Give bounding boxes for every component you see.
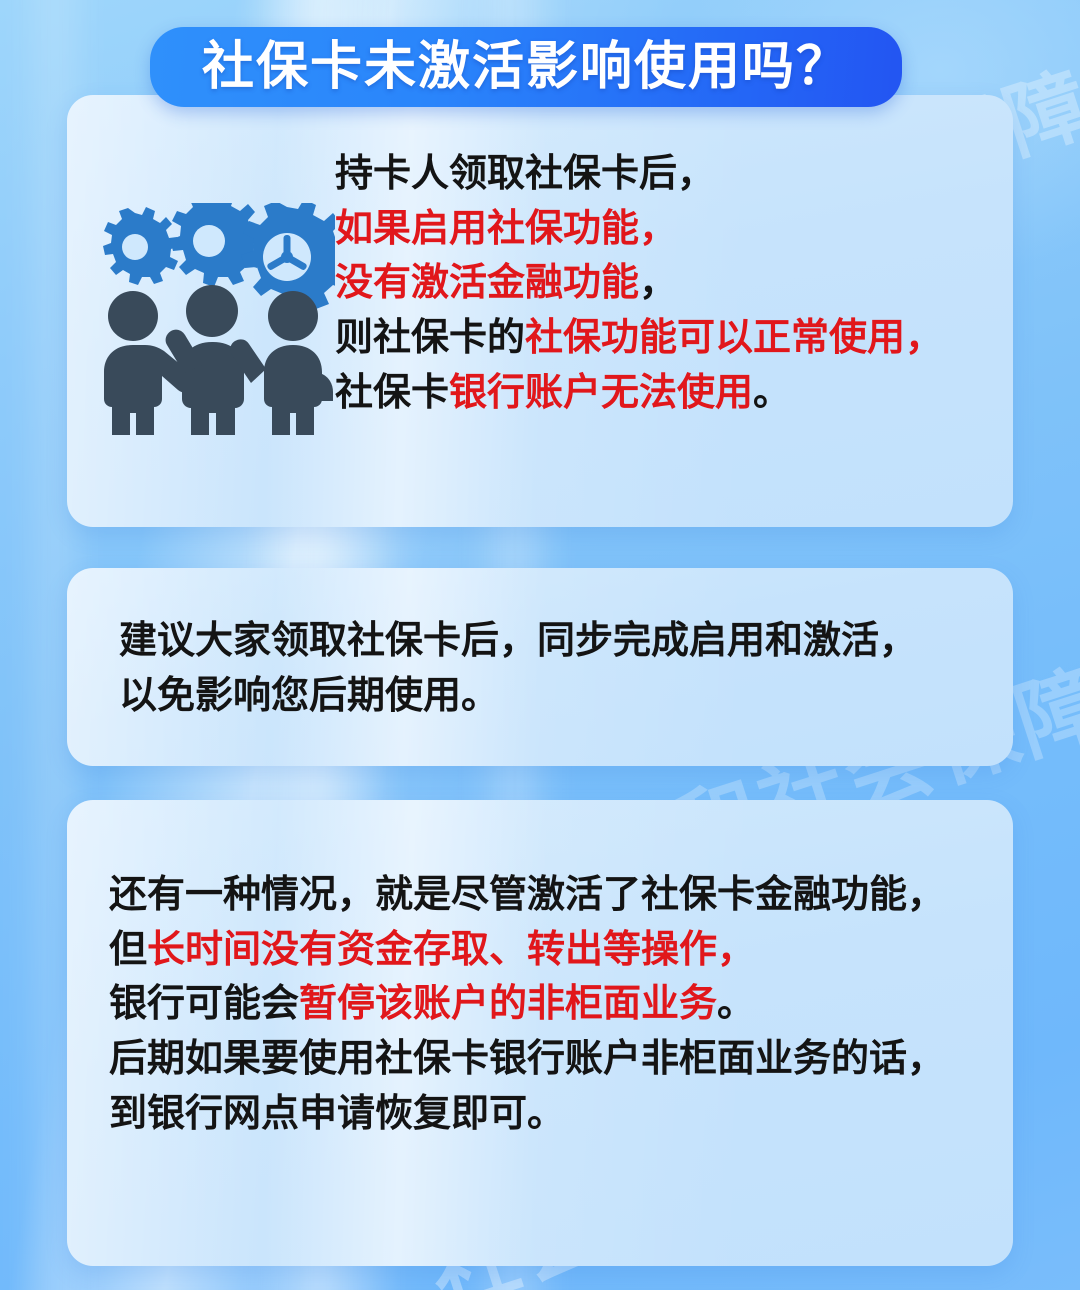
people-and-gears-icon	[67, 95, 335, 435]
highlight-text: 社保功能可以正常使用，	[525, 317, 943, 359]
page-title: 社保卡未激活影响使用吗？	[202, 41, 850, 93]
poster-root: 人力资源和社会保障部 人力资源和社会保障部 社会保障部 社保卡未激活影响使用吗？	[0, 0, 1080, 1290]
text-line: 建议大家领取社保卡后，同步完成启用和激活，	[119, 614, 1013, 669]
body-text: 后期如果要使用社保卡银行账户非柜面业务的话，	[109, 1038, 945, 1080]
highlight-text: 银行账户无法使用	[449, 372, 753, 414]
body-text: 。	[753, 372, 791, 414]
text-line: 以免影响您后期使用。	[119, 669, 1013, 724]
highlight-text: 长时间没有资金存取、转出等操作，	[147, 929, 755, 971]
text-line: 到银行网点申请恢复即可。	[109, 1087, 1013, 1142]
text-line: 社保卡银行账户无法使用。	[335, 366, 943, 421]
text-line: 但长时间没有资金存取、转出等操作，	[109, 923, 1013, 978]
highlight-text: 暂停该账户的非柜面业务	[299, 983, 717, 1025]
body-text: 则社保卡的	[335, 317, 525, 359]
card-3-paragraph: 还有一种情况，就是尽管激活了社保卡金融功能，但长时间没有资金存取、转出等操作，银…	[109, 868, 1013, 1142]
title-banner: 社保卡未激活影响使用吗？	[150, 27, 902, 107]
card-2-paragraph: 建议大家领取社保卡后，同步完成启用和激活，以免影响您后期使用。	[119, 614, 1013, 723]
text-line: 银行可能会暂停该账户的非柜面业务。	[109, 977, 1013, 1032]
text-line: 后期如果要使用社保卡银行账户非柜面业务的话，	[109, 1032, 1013, 1087]
body-text: 持卡人领取社保卡后，	[335, 153, 715, 195]
text-line: 持卡人领取社保卡后，	[335, 147, 943, 202]
body-text: 。	[717, 983, 755, 1025]
text-line: 没有激活金融功能，	[335, 256, 943, 311]
card-1-paragraph: 持卡人领取社保卡后，如果启用社保功能，没有激活金融功能，则社保卡的社保功能可以正…	[335, 147, 943, 421]
info-card-2: 建议大家领取社保卡后，同步完成启用和激活，以免影响您后期使用。	[67, 568, 1013, 766]
text-line: 还有一种情况，就是尽管激活了社保卡金融功能，	[109, 868, 1013, 923]
body-text: 银行可能会	[109, 983, 299, 1025]
info-card-3: 还有一种情况，就是尽管激活了社保卡金融功能，但长时间没有资金存取、转出等操作，银…	[67, 800, 1013, 1266]
info-card-1: 持卡人领取社保卡后，如果启用社保功能，没有激活金融功能，则社保卡的社保功能可以正…	[67, 95, 1013, 527]
text-line: 如果启用社保功能，	[335, 202, 943, 257]
highlight-text: 如果启用社保功能，	[335, 208, 677, 250]
body-text: ，	[639, 262, 677, 304]
body-text: 以免影响您后期使用。	[119, 675, 499, 717]
text-line: 则社保卡的社保功能可以正常使用，	[335, 311, 943, 366]
body-text: 但	[109, 929, 147, 971]
body-text: 还有一种情况，就是尽管激活了社保卡金融功能，	[109, 874, 945, 916]
body-text: 社保卡	[335, 372, 449, 414]
highlight-text: 没有激活金融功能	[335, 262, 639, 304]
body-text: 到银行网点申请恢复即可。	[109, 1093, 565, 1135]
body-text: 建议大家领取社保卡后，同步完成启用和激活，	[119, 620, 917, 662]
